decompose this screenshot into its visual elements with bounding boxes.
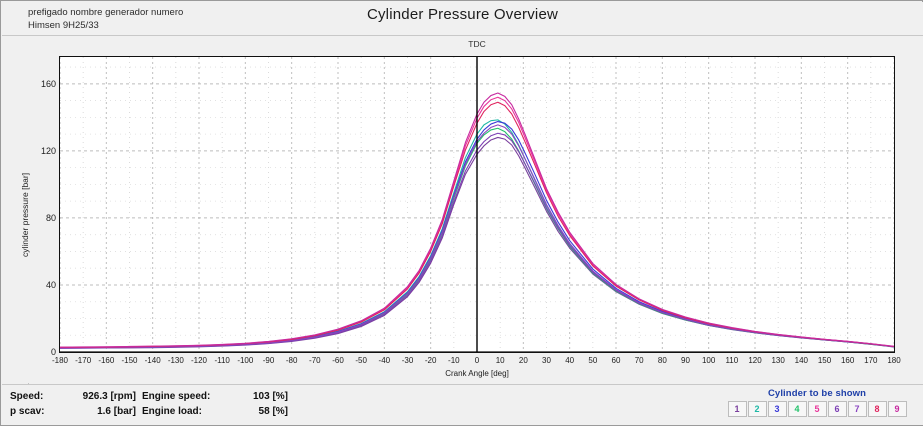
page-title: Cylinder Pressure Overview [2,6,923,23]
cylinder-selector-title: Cylinder to be shown [723,388,911,399]
cylinder-button-1[interactable]: 1 [728,401,747,417]
speed-label: Speed: [10,391,66,402]
cylinder-button-6[interactable]: 6 [828,401,847,417]
pscav-value: 1.6 [bar] [66,406,142,417]
stat-row-pscav: p scav: 1.6 [bar] Engine load: 58 [%] [10,406,288,421]
stat-row-speed: Speed: 926.3 [rpm] Engine speed: 103 [%] [10,391,288,406]
chart-area: TDC cylinder pressure [bar] 04080120160 … [2,36,923,384]
y-tick-label: 40 [22,280,56,290]
status-footer: Speed: 926.3 [rpm] Engine speed: 103 [%]… [2,384,923,425]
window-header: prefigado nombre generador numero Himsen… [2,2,923,36]
cylinder-button-3[interactable]: 3 [768,401,787,417]
cylinder-selector: Cylinder to be shown 123456789 [723,388,911,417]
pressure-curves-svg [60,57,894,352]
cylinder-button-8[interactable]: 8 [868,401,887,417]
speed-value: 926.3 [rpm] [66,391,142,402]
cylinder-button-4[interactable]: 4 [788,401,807,417]
engine-load-value: 58 [%] [226,406,288,417]
engine-speed-value: 103 [%] [226,391,288,402]
engine-load-label: Engine load: [142,406,226,417]
cylinder-button-7[interactable]: 7 [848,401,867,417]
cylinder-button-5[interactable]: 5 [808,401,827,417]
cylinder-button-group: 123456789 [723,401,911,417]
x-tick-label: 180 [874,356,914,365]
cylinder-button-2[interactable]: 2 [748,401,767,417]
y-tick-label: 80 [22,213,56,223]
cylinder-button-9[interactable]: 9 [888,401,907,417]
x-axis-ticks: -180-170-160-150-140-130-120-110-100-90-… [59,356,895,370]
y-tick-label: 160 [22,79,56,89]
y-axis-ticks: 04080120160 [16,36,56,384]
x-axis-title: Crank Angle [deg] [59,369,895,378]
tdc-label: TDC [468,39,485,49]
pscav-label: p scav: [10,406,66,417]
engine-speed-label: Engine speed: [142,391,226,402]
plot-canvas [59,56,895,353]
y-tick-label: 120 [22,146,56,156]
cylinder-pressure-window: prefigado nombre generador numero Himsen… [0,0,923,426]
engine-stats: Speed: 926.3 [rpm] Engine speed: 103 [%]… [10,391,288,421]
